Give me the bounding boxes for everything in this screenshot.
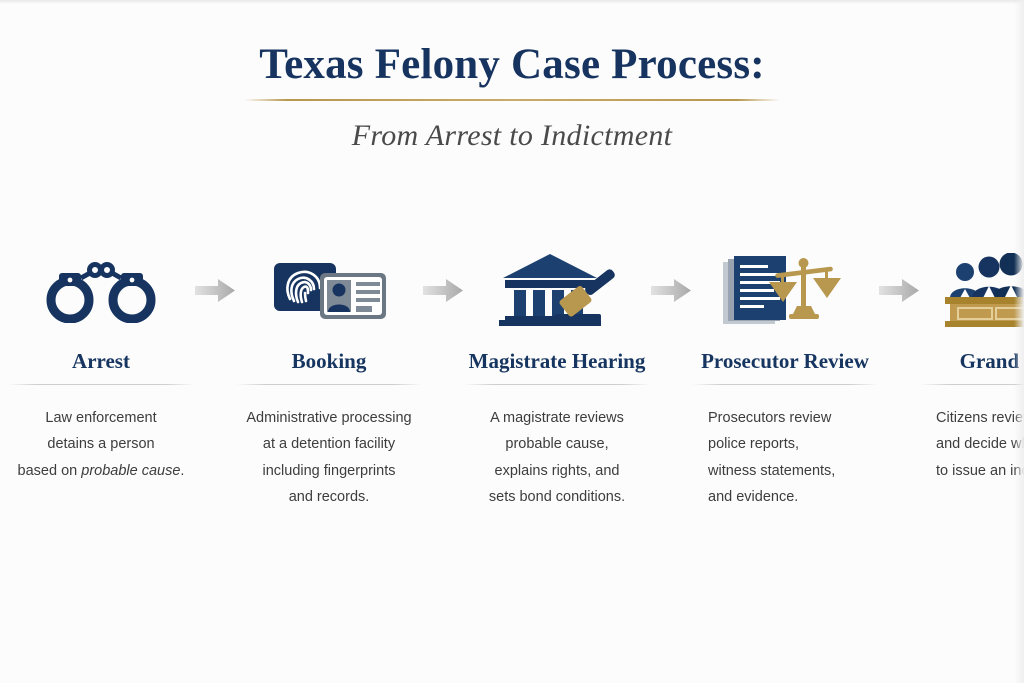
desc-emphasis: probable cause — [81, 463, 180, 479]
courthouse-gavel-icon — [464, 248, 650, 332]
step-label: Magistrate Hearing — [464, 350, 650, 373]
documents-scales-icon — [692, 248, 878, 332]
desc-line: Prosecutors review — [708, 410, 831, 426]
desc-line: A magistrate reviews — [490, 410, 624, 426]
step-label: Arrest — [8, 350, 194, 373]
step-divider — [236, 384, 422, 385]
desc-line: at a detention facility — [263, 436, 395, 452]
step-description: Prosecutors review police reports, witne… — [692, 405, 878, 511]
infographic-canvas: Texas Felony Case Process: From Arrest t… — [0, 0, 1024, 683]
step-description: A magistrate reviews probable cause, exp… — [464, 405, 650, 511]
step-grand-jury: Grand Jury Citizens review evidence and … — [920, 248, 1024, 484]
process-steps: Arrest Law enforcement detains a person … — [8, 248, 1016, 511]
desc-line: witness statements, — [708, 463, 835, 479]
step-description: Administrative processing at a detention… — [236, 405, 422, 511]
arrow-right-icon — [650, 248, 692, 332]
step-description: Citizens review evidence and decide whet… — [920, 405, 1024, 484]
desc-line: explains rights, and — [495, 463, 620, 479]
desc-line: police reports, — [708, 436, 799, 452]
desc-line: Citizens review evidence — [936, 410, 1024, 426]
desc-line: sets bond conditions. — [489, 489, 625, 505]
page-title: Texas Felony Case Process: — [0, 42, 1024, 88]
step-divider — [8, 384, 194, 385]
step-description: Law enforcement detains a person based o… — [8, 405, 194, 484]
desc-line: detains a person — [47, 436, 154, 452]
step-arrest: Arrest Law enforcement detains a person … — [8, 248, 194, 484]
step-divider — [920, 384, 1024, 385]
step-divider — [692, 384, 878, 385]
handcuffs-icon — [8, 248, 194, 332]
step-label: Booking — [236, 350, 422, 373]
step-divider — [464, 384, 650, 385]
desc-line: and evidence. — [708, 489, 798, 505]
step-magistrate-hearing: Magistrate Hearing A magistrate reviews … — [464, 248, 650, 511]
desc-line: to issue an indictment. — [936, 463, 1024, 479]
jury-box-icon — [920, 248, 1024, 332]
desc-line: and records. — [289, 489, 370, 505]
desc-line: Law enforcement — [45, 410, 156, 426]
page-subtitle: From Arrest to Indictment — [0, 119, 1024, 153]
desc-tail: . — [180, 463, 184, 479]
booking-id-fingerprint-icon — [236, 248, 422, 332]
title-divider — [244, 99, 780, 101]
step-label: Prosecutor Review — [692, 350, 878, 373]
desc-line: Administrative processing — [246, 410, 411, 426]
desc-line: probable cause, — [505, 436, 608, 452]
desc-line: and decide whether — [936, 436, 1024, 452]
desc-line: based on — [18, 463, 82, 479]
arrow-right-icon — [194, 248, 236, 332]
step-label: Grand Jury — [920, 350, 1024, 373]
desc-line: including fingerprints — [263, 463, 396, 479]
arrow-right-icon — [422, 248, 464, 332]
step-booking: Booking Administrative processing at a d… — [236, 248, 422, 511]
step-prosecutor-review: Prosecutor Review Prosecutors review pol… — [692, 248, 878, 511]
arrow-right-icon — [878, 248, 920, 332]
header: Texas Felony Case Process: From Arrest t… — [0, 42, 1024, 153]
